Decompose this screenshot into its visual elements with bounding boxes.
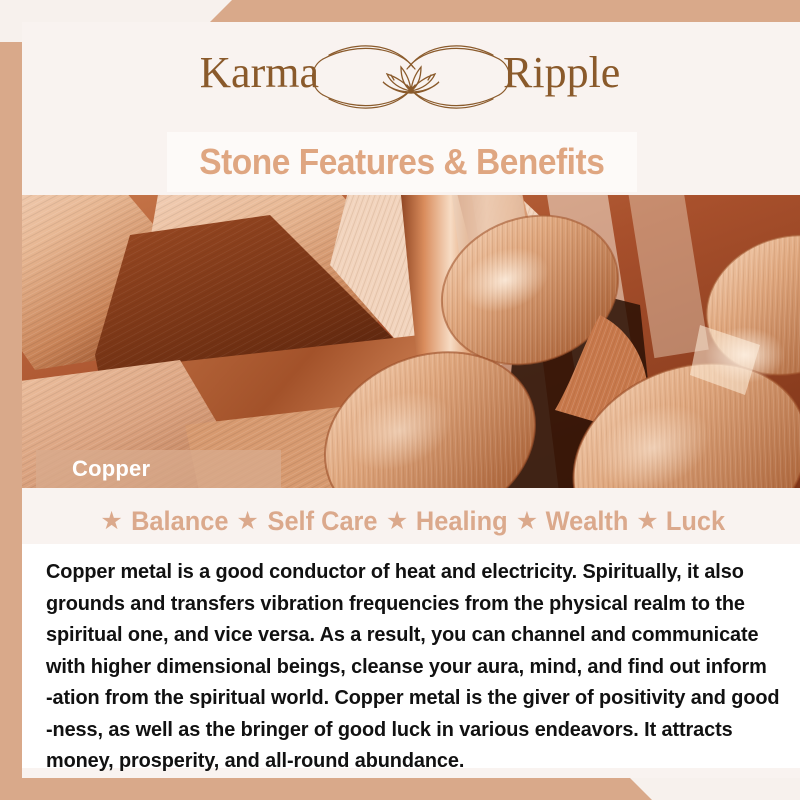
- page-title: Stone Features & Benefits: [199, 141, 604, 183]
- star-icon: ★: [631, 509, 663, 534]
- description-line: Copper metal is a good conductor of heat…: [46, 556, 756, 588]
- description-line: -ness, as well as the bringer of good lu…: [46, 714, 756, 746]
- content-card: Karma Ripple Stone Features & Benefits: [22, 22, 800, 778]
- photo-caption-bar: Copper: [36, 450, 281, 488]
- logo-word-right: Ripple: [503, 48, 620, 97]
- description-line: with higher dimensional beings, cleanse …: [46, 651, 756, 683]
- copper-photo-illustration: [22, 195, 800, 488]
- karma-ripple-logo-svg: Karma Ripple: [201, 33, 621, 119]
- feature-list: ★ Balance ★ Self Care ★ Healing ★ Wealth…: [22, 500, 800, 542]
- description-line: money, prosperity, and all-round abundan…: [46, 745, 756, 777]
- photo-caption-text: Copper: [36, 456, 150, 482]
- feature-item-healing: Healing: [416, 506, 508, 537]
- section-title-banner: Stone Features & Benefits: [167, 132, 637, 192]
- star-icon: ★: [95, 509, 127, 534]
- description-line: grounds and transfers vibration frequenc…: [46, 588, 756, 620]
- feature-item-balance: Balance: [131, 506, 228, 537]
- description-panel: Copper metal is a good conductor of heat…: [22, 544, 800, 768]
- feature-item-wealth: Wealth: [546, 506, 629, 537]
- star-icon: ★: [511, 509, 543, 534]
- logo-word-left: Karma: [201, 48, 319, 97]
- star-icon: ★: [231, 509, 263, 534]
- description-text: Copper metal is a good conductor of heat…: [46, 556, 756, 777]
- lotus-icon: [383, 67, 439, 93]
- star-icon: ★: [381, 509, 413, 534]
- feature-item-self-care: Self Care: [267, 506, 377, 537]
- copper-photo: Copper: [22, 195, 800, 488]
- description-line: spiritual one, and vice versa. As a resu…: [46, 619, 756, 651]
- feature-item-luck: Luck: [666, 506, 725, 537]
- description-line: -ation from the spiritual world. Copper …: [46, 682, 756, 714]
- brand-logo: Karma Ripple: [22, 28, 800, 124]
